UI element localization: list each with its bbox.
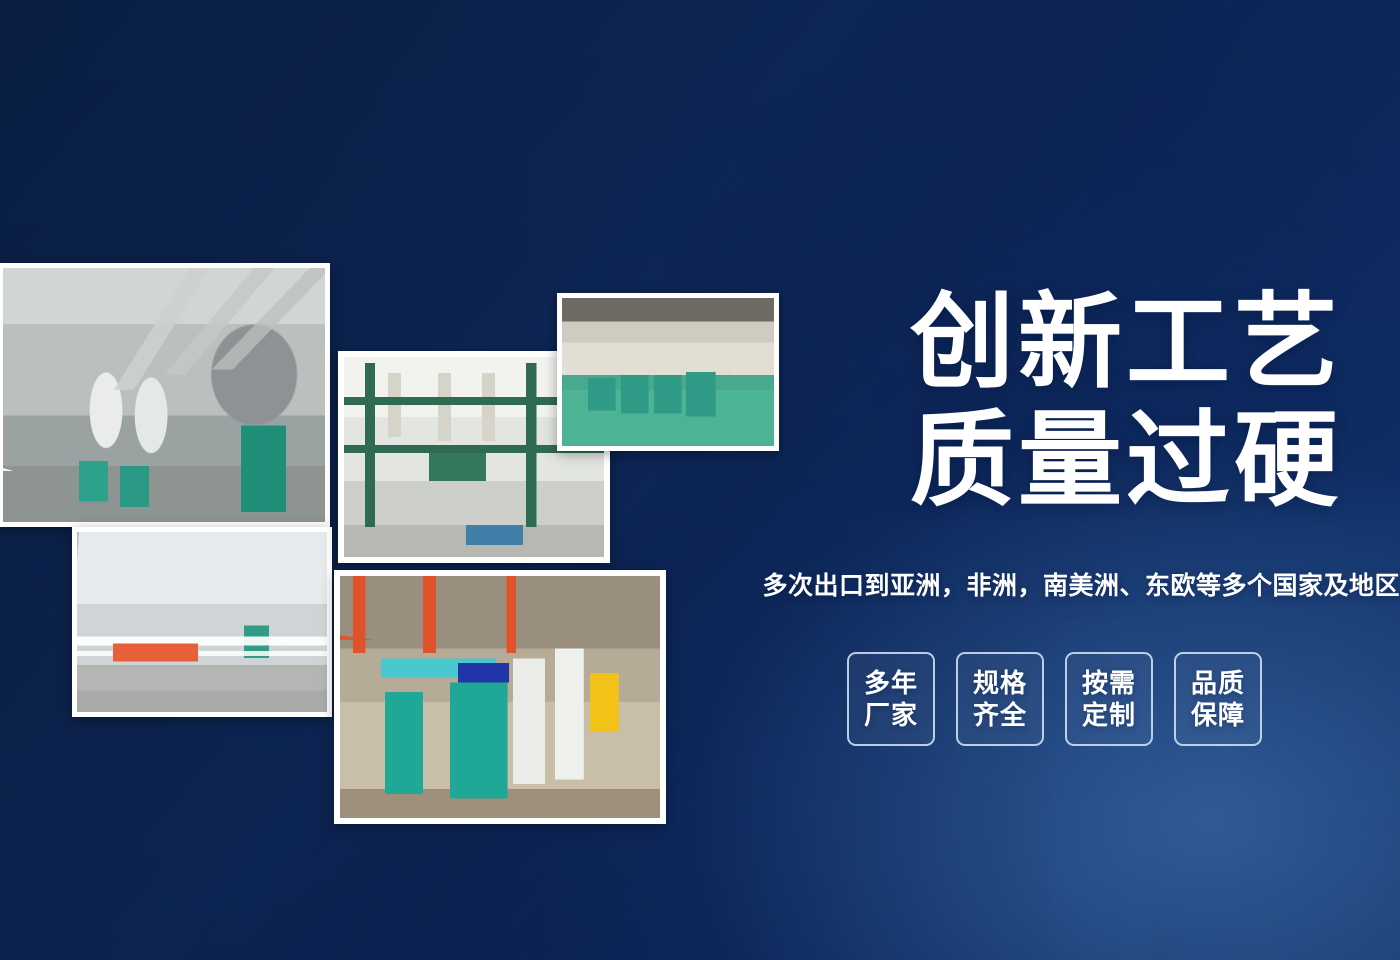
badge-line-2: 齐全 — [973, 699, 1027, 731]
photo-teal-white-milling-plant — [334, 570, 666, 824]
photo-image-1 — [3, 268, 325, 522]
badge-line-1: 多年 — [864, 667, 918, 699]
photo-white-orange-machine-line — [72, 527, 332, 717]
badge-line-2: 保障 — [1191, 699, 1245, 731]
badge-line-1: 规格 — [973, 667, 1027, 699]
feature-badge-custom-on-demand: 按需 定制 — [1065, 652, 1153, 746]
photo-milling-line-with-cyclones — [0, 263, 330, 527]
promo-banner: 创新工艺 质量过硬 多次出口到亚洲，非洲，南美洲、东欧等多个国家及地区 多年 厂… — [0, 0, 1400, 960]
badge-line-1: 按需 — [1082, 667, 1136, 699]
headline-line-2: 质量过硬 — [702, 403, 1342, 521]
headline-line-1: 创新工艺 — [702, 285, 1342, 403]
badge-line-1: 品质 — [1191, 667, 1245, 699]
badge-line-2: 厂家 — [864, 699, 918, 731]
photo-image-2 — [77, 532, 327, 712]
headline: 创新工艺 质量过硬 — [702, 285, 1342, 520]
feature-badge-list: 多年 厂家 规格 齐全 按需 定制 品质 保障 — [847, 652, 1262, 746]
subtitle: 多次出口到亚洲，非洲，南美洲、东欧等多个国家及地区 — [762, 566, 1400, 602]
photo-image-5 — [340, 576, 660, 818]
feature-badge-many-years-manufacturer: 多年 厂家 — [847, 652, 935, 746]
feature-badge-quality-guarantee: 品质 保障 — [1174, 652, 1262, 746]
badge-line-2: 定制 — [1082, 699, 1136, 731]
feature-badge-full-specifications: 规格 齐全 — [956, 652, 1044, 746]
